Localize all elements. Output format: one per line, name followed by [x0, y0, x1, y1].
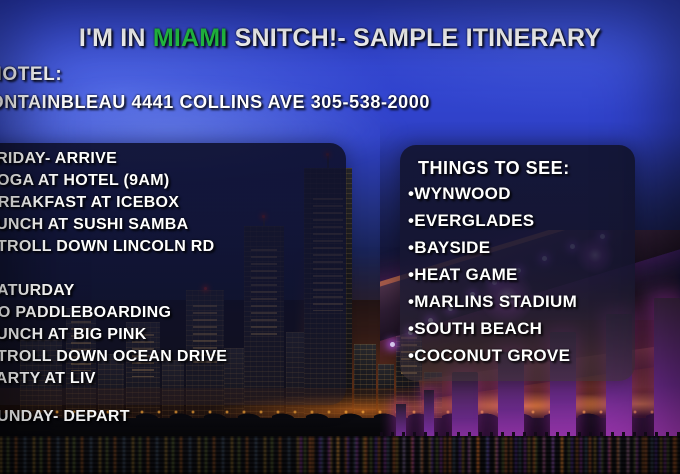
things-to-see-item: •BAYSIDE: [408, 238, 490, 258]
things-to-see-item: •MARLINS STADIUM: [408, 292, 577, 312]
itinerary-line: PARTY AT LIV: [0, 370, 96, 388]
water-ripples: [0, 436, 680, 474]
itinerary-graphic: I'M IN MIAMI SNITCH!- SAMPLE ITINERARY H…: [0, 0, 680, 474]
hotel-address: FONTAINBLEAU 4441 COLLINS AVE 305-538-20…: [0, 92, 430, 113]
things-to-see-item: •WYNWOOD: [408, 184, 511, 204]
itinerary-line: SATURDAY: [0, 282, 75, 300]
itinerary-line: DO PADDLEBOARDING: [0, 304, 171, 322]
title-prefix: I'M IN: [79, 24, 153, 52]
itinerary-line: BREAKFAST AT ICEBOX: [0, 194, 179, 212]
itinerary-line: STROLL DOWN OCEAN DRIVE: [0, 348, 227, 366]
title-suffix: SNITCH!- SAMPLE ITINERARY: [227, 24, 601, 52]
things-to-see-item: •EVERGLADES: [408, 211, 534, 231]
itinerary-line: LUNCH AT SUSHI SAMBA: [0, 216, 188, 234]
things-to-see-item: •HEAT GAME: [408, 265, 518, 285]
things-to-see-item: •COCONUT GROVE: [408, 346, 570, 366]
title-highlight: MIAMI: [153, 24, 228, 52]
itinerary-line: YOGA AT HOTEL (9AM): [0, 172, 169, 190]
things-to-see-item: •SOUTH BEACH: [408, 319, 542, 339]
itinerary-line: FRIDAY- ARRIVE: [0, 150, 117, 168]
itinerary-line: SUNDAY- DEPART: [0, 408, 130, 426]
page-title: I'M IN MIAMI SNITCH!- SAMPLE ITINERARY: [0, 24, 680, 53]
itinerary-line: LUNCH AT BIG PINK: [0, 326, 147, 344]
hotel-label: HOTEL:: [0, 64, 62, 86]
things-to-see-title: THINGS TO SEE:: [418, 158, 570, 179]
itinerary-line: STROLL DOWN LINCOLN RD: [0, 238, 215, 256]
